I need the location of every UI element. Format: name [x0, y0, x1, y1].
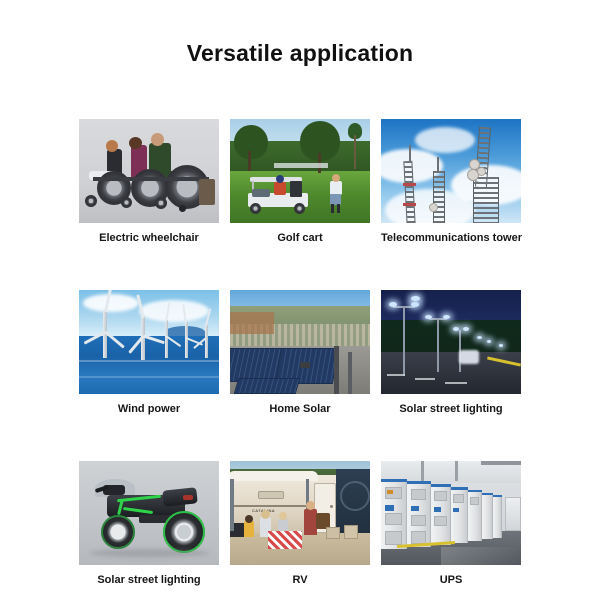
grid-row: Solar street lighting CATALINA [79, 461, 521, 587]
indicator-light [387, 490, 393, 494]
grid-item-caption: Wind power [79, 403, 219, 416]
cabinet-badge [385, 505, 394, 511]
thumbnail-home-solar[interactable] [230, 290, 370, 394]
wheel [294, 203, 305, 214]
versatile-application-page: Versatile application [0, 0, 600, 600]
grid-item-telecommunications-tower[interactable]: Telecommunications tower [381, 119, 521, 245]
dish-antenna [429, 203, 438, 212]
cloud [83, 294, 139, 312]
cabinet-top-trim [431, 484, 451, 487]
cabinet-top-trim [468, 490, 482, 492]
cabinet-meter-panel [434, 491, 447, 501]
cabinet-panel [470, 497, 479, 505]
antenna-marker [403, 183, 416, 186]
application-grid: Electric wheelchair [79, 119, 521, 587]
awning-pole [230, 479, 234, 531]
folding-chair [344, 525, 358, 539]
clubhouse [274, 163, 328, 168]
cabinet-top-trim [381, 479, 407, 482]
person-head [151, 133, 164, 146]
thumbnail-ups[interactable] [381, 461, 521, 565]
thumbnail-solar-street-lighting[interactable] [381, 290, 521, 394]
turbine-tower [205, 324, 208, 358]
floor-reflection [441, 547, 521, 565]
lamp-post [403, 308, 405, 376]
grid-item-caption: UPS [381, 574, 521, 587]
ceiling-beam [455, 461, 458, 481]
panel-support [348, 352, 352, 394]
ups-cabinet [493, 495, 502, 538]
cabinet-panel [385, 531, 402, 545]
ceiling-beam [421, 461, 424, 483]
rim-accent [101, 515, 135, 549]
thumbnail-wind-power[interactable] [79, 290, 219, 394]
grid-item-solar-street-lighting-night[interactable]: Solar street lighting [381, 290, 521, 416]
grid-row: Electric wheelchair [79, 119, 521, 245]
caster-wheel [121, 197, 132, 208]
grid-item-motorcycle[interactable]: Solar street lighting [79, 461, 219, 587]
lamp-head [477, 336, 482, 339]
lamp-head [411, 296, 420, 301]
panel-support [334, 346, 339, 394]
grid-item-ups[interactable]: UPS [381, 461, 521, 587]
rim-accent [163, 511, 205, 553]
person-head [261, 510, 270, 519]
cabinet-top-trim [451, 487, 468, 490]
grid-item-caption: Telecommunications tower [381, 232, 521, 245]
lamp-head [411, 302, 419, 307]
grid-item-wind-power[interactable]: Wind power [79, 290, 219, 416]
cabinet-top-trim [407, 481, 431, 484]
cabinet-badge [411, 506, 419, 511]
thumbnail-rv[interactable]: CATALINA [230, 461, 370, 565]
cabinet-panel [385, 513, 402, 525]
golfer-head [332, 174, 340, 182]
shadow [89, 549, 209, 557]
cart-seat [252, 189, 270, 197]
grid-item-caption: Electric wheelchair [79, 232, 219, 245]
ceiling-beam [481, 461, 521, 465]
golfer-cap [276, 175, 284, 183]
rv-roofline [230, 471, 318, 481]
person-head [306, 501, 315, 510]
person-figure [244, 521, 254, 537]
grid-item-home-solar[interactable]: Home Solar [230, 290, 370, 416]
antenna-mast [473, 177, 499, 223]
tree-icon [234, 125, 268, 159]
grid-row: Wind power Home Solar [79, 290, 521, 416]
cabinet-top-trim [493, 495, 502, 497]
grid-item-caption: RV [230, 574, 370, 587]
lamp-head [425, 315, 432, 319]
cabinet-meter-panel [411, 489, 426, 500]
ball [179, 205, 186, 212]
picnic-tablecloth [268, 531, 302, 549]
cloud [139, 300, 209, 322]
cabinet-panel [411, 531, 426, 544]
page-title: Versatile application [0, 40, 600, 67]
tail-light [183, 495, 193, 500]
ups-cabinet [482, 493, 493, 539]
wheel [250, 203, 261, 214]
person-head [129, 137, 142, 149]
cabinet-panel [434, 516, 447, 526]
person-head [245, 515, 253, 523]
lane-marking [387, 374, 405, 376]
dish-antenna [477, 167, 486, 176]
bag [199, 179, 215, 205]
lamp-head [463, 327, 469, 331]
thumbnail-motorcycle[interactable] [79, 461, 219, 565]
cabinet-panel [411, 515, 426, 526]
frame-bar [93, 177, 209, 181]
tree-trunk [248, 151, 251, 171]
golfer-figure [274, 182, 286, 195]
rv-window [258, 491, 284, 499]
grid-item-caption: Solar street lighting [79, 574, 219, 587]
cabinet-badge [434, 507, 441, 512]
golfer-leg [331, 204, 334, 213]
golfer-leg [337, 204, 340, 213]
cabinet-top-trim [482, 493, 493, 495]
cloud [415, 127, 475, 153]
antenna-rod [437, 157, 439, 173]
lane-marking [445, 382, 467, 384]
caster-wheel [155, 197, 167, 209]
rv-graphic [340, 481, 370, 511]
lamp-head [443, 315, 450, 319]
cabinet-badge [453, 508, 459, 512]
folding-chair [326, 527, 340, 539]
caster-wheel [85, 195, 97, 207]
antenna-marker [403, 203, 416, 206]
antenna-rod [409, 145, 411, 163]
lamp-head [389, 302, 397, 307]
grid-item-electric-wheelchair[interactable]: Electric wheelchair [79, 119, 219, 245]
door-handle [330, 505, 333, 508]
wave [79, 360, 219, 362]
grid-item-rv[interactable]: CATALINA [230, 461, 370, 587]
cabinet-meter-panel [453, 494, 464, 503]
palm-trunk [354, 135, 356, 169]
grid-item-caption: Golf cart [230, 232, 370, 245]
golfer-figure [330, 181, 342, 195]
vehicle-headlight-glow [459, 350, 479, 364]
lamp-post [437, 320, 439, 372]
antenna-mast [433, 171, 445, 223]
grid-item-golf-cart[interactable]: Golf cart [230, 119, 370, 245]
lane-marking [415, 378, 435, 380]
person-head [279, 512, 287, 520]
golf-bag [290, 181, 302, 197]
lamp-head [453, 327, 459, 331]
lamp-head [487, 340, 491, 343]
thumbnail-electric-wheelchair[interactable] [79, 119, 219, 223]
wave [79, 376, 219, 378]
grid-item-caption: Solar street lighting [381, 403, 521, 416]
person-head [106, 140, 118, 152]
cliff [230, 312, 274, 334]
roof-fixture [300, 362, 310, 368]
solar-panel [234, 378, 301, 394]
grid-item-caption: Home Solar [230, 403, 370, 416]
thumbnail-telecommunications-tower[interactable] [381, 119, 521, 223]
lamp-head [499, 344, 503, 347]
thumbnail-golf-cart[interactable] [230, 119, 370, 223]
background-equipment [505, 497, 521, 531]
